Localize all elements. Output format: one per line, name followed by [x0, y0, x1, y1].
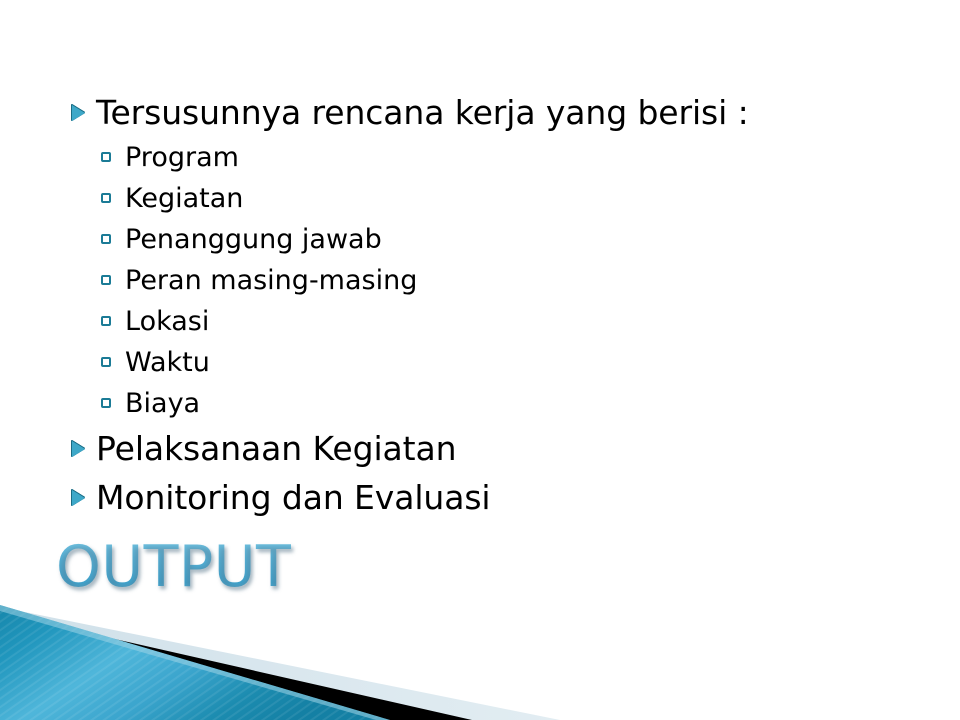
- square-outline-bullet-icon: [100, 383, 125, 424]
- square-outline-glyph: [101, 316, 111, 326]
- bullet-item-level1: Pelaksanaan Kegiatan: [0, 424, 960, 473]
- page-title: OUTPUT: [56, 536, 291, 598]
- square-outline-bullet-icon: [100, 219, 125, 260]
- corner-banner-graphic: [0, 595, 960, 720]
- bullet-item-level2: Biaya: [0, 383, 960, 424]
- bullet-item-label: Peran masing-masing: [125, 260, 960, 301]
- triangle-bullet-icon: [70, 88, 96, 137]
- square-outline-bullet-icon: [100, 178, 125, 219]
- triangle-bullet-icon: [70, 424, 96, 473]
- bullet-item-label: Tersusunnya rencana kerja yang berisi :: [96, 88, 960, 137]
- corner-banner-svg: [0, 595, 960, 720]
- bullet-item-level1: Monitoring dan Evaluasi: [0, 473, 960, 522]
- bullet-item-label: Monitoring dan Evaluasi: [96, 473, 960, 522]
- slide: Tersusunnya rencana kerja yang berisi :P…: [0, 0, 960, 720]
- bullet-item-level2: Program: [0, 137, 960, 178]
- triangle-glyph: [72, 105, 85, 121]
- triangle-bullet-icon: [70, 473, 96, 522]
- bullet-item-label: Kegiatan: [125, 178, 960, 219]
- bullet-item-level2: Waktu: [0, 342, 960, 383]
- square-outline-bullet-icon: [100, 137, 125, 178]
- triangle-glyph: [72, 490, 85, 506]
- square-outline-bullet-icon: [100, 301, 125, 342]
- triangle-glyph: [72, 441, 85, 457]
- content-list: Tersusunnya rencana kerja yang berisi :P…: [0, 88, 960, 522]
- square-outline-bullet-icon: [100, 342, 125, 383]
- bullet-item-level2: Penanggung jawab: [0, 219, 960, 260]
- bullet-item-level2: Lokasi: [0, 301, 960, 342]
- bullet-item-label: Lokasi: [125, 301, 960, 342]
- square-outline-glyph: [101, 152, 111, 162]
- square-outline-glyph: [101, 398, 111, 408]
- square-outline-bullet-icon: [100, 260, 125, 301]
- bullet-item-level1: Tersusunnya rencana kerja yang berisi :: [0, 88, 960, 137]
- bullet-item-label: Pelaksanaan Kegiatan: [96, 424, 960, 473]
- bullet-item-label: Program: [125, 137, 960, 178]
- bullet-item-label: Penanggung jawab: [125, 219, 960, 260]
- bullet-item-level2: Kegiatan: [0, 178, 960, 219]
- bullet-item-level2: Peran masing-masing: [0, 260, 960, 301]
- square-outline-glyph: [101, 357, 111, 367]
- bullet-item-label: Waktu: [125, 342, 960, 383]
- square-outline-glyph: [101, 193, 111, 203]
- square-outline-glyph: [101, 234, 111, 244]
- square-outline-glyph: [101, 275, 111, 285]
- bullet-item-label: Biaya: [125, 383, 960, 424]
